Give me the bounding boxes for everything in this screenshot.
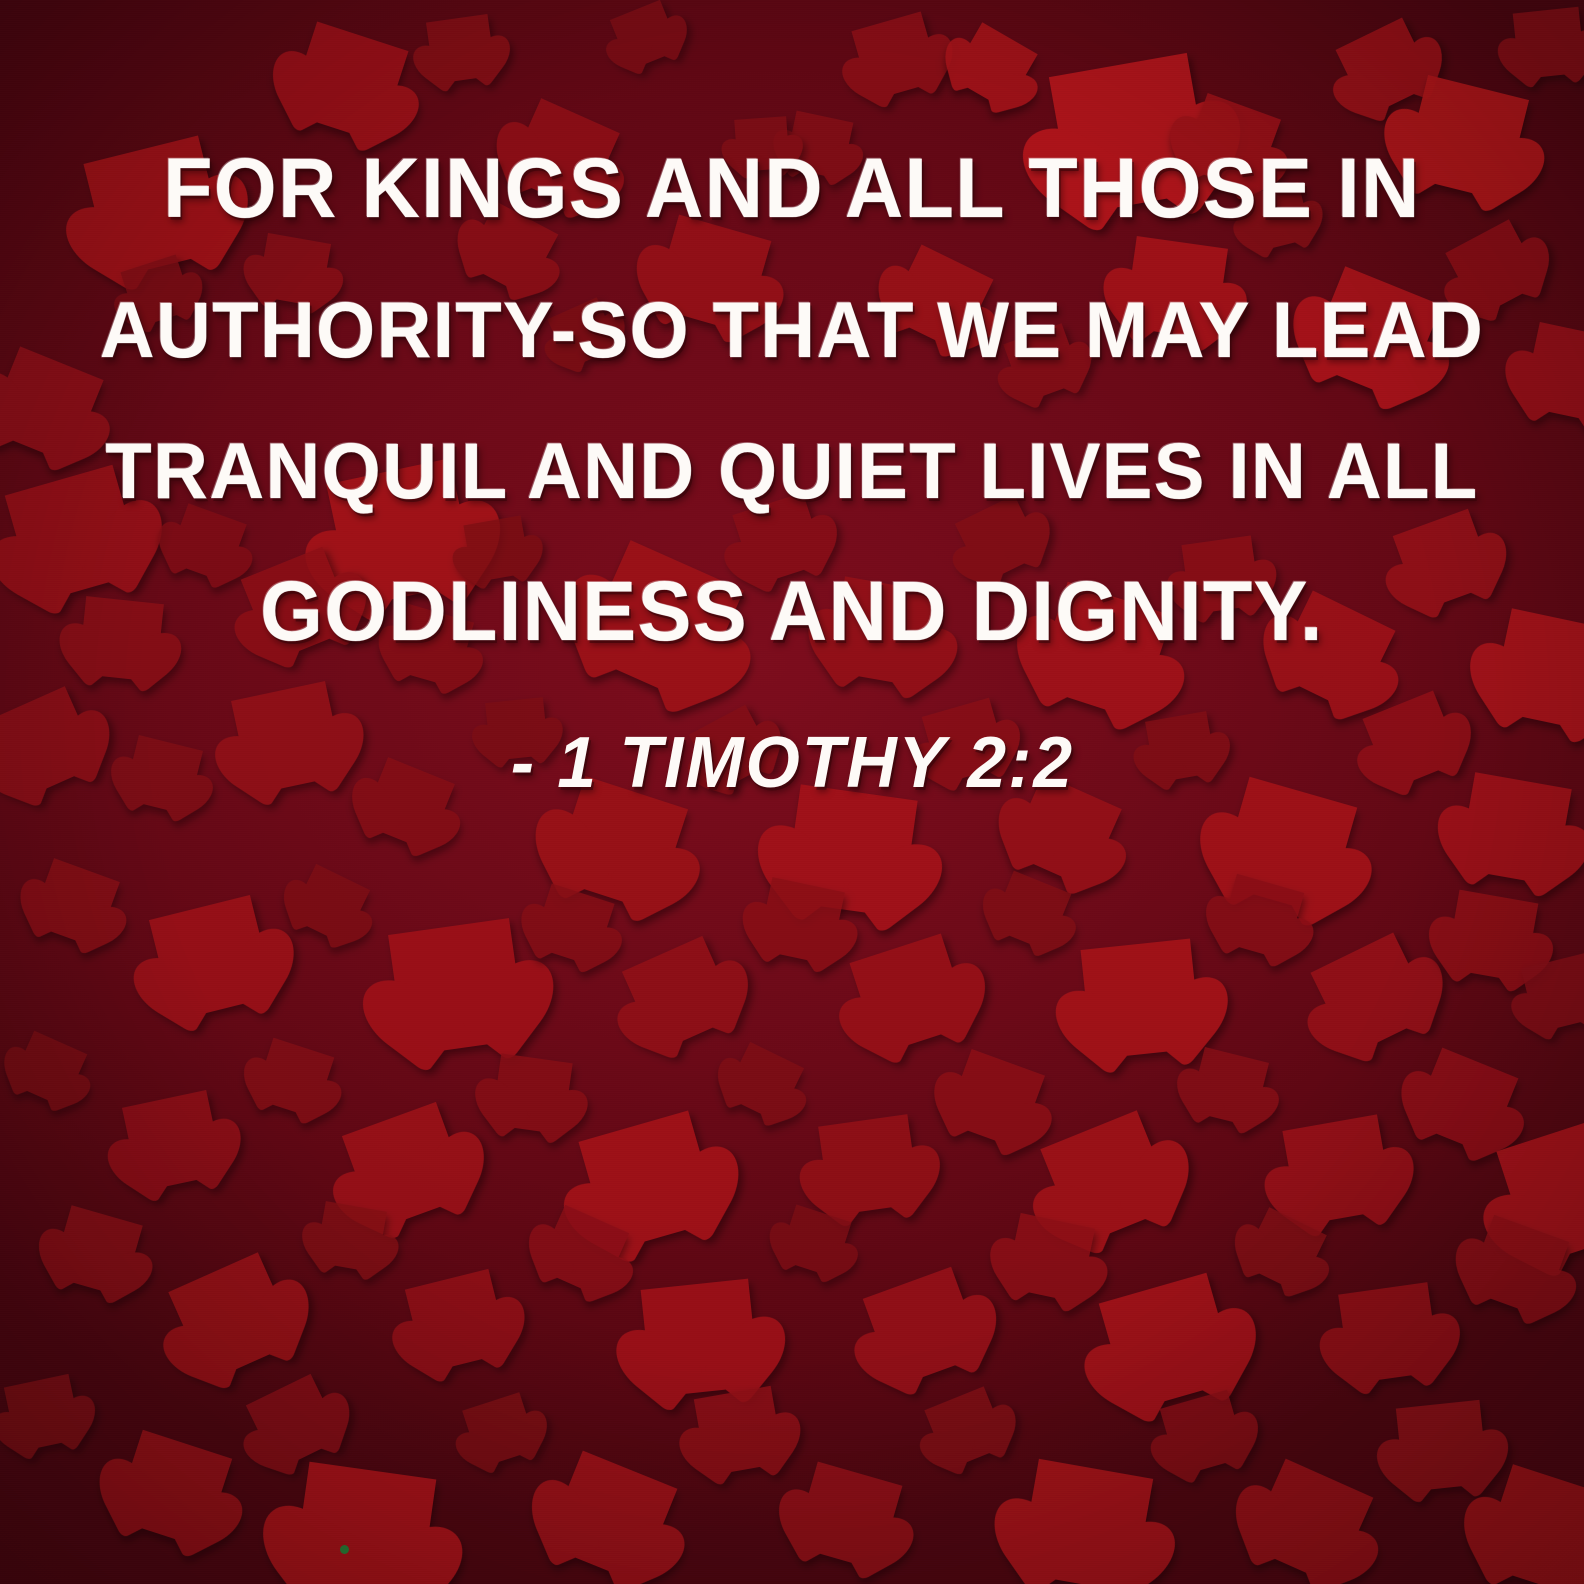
heart-confetti-icon bbox=[610, 0, 680, 70]
heart-confetti-icon bbox=[757, 877, 845, 965]
heart-confetti-icon bbox=[622, 936, 738, 1052]
verse-line: GODLINESS AND DIGNITY. bbox=[99, 541, 1485, 682]
heart-confetti-icon bbox=[122, 1090, 224, 1192]
heart-confetti-icon bbox=[30, 858, 120, 948]
green-speck-artifact bbox=[340, 1545, 349, 1554]
heart-confetti-icon bbox=[254, 1038, 335, 1119]
heart-confetti-icon bbox=[1189, 1047, 1269, 1127]
heart-confetti-icon bbox=[11, 1031, 88, 1108]
heart-confetti-icon bbox=[1005, 1213, 1095, 1303]
heart-confetti-icon bbox=[168, 1252, 297, 1381]
heart-confetti-icon bbox=[724, 1042, 804, 1122]
heart-confetti-icon bbox=[818, 1114, 920, 1216]
heart-confetti-icon bbox=[1099, 1273, 1238, 1412]
heart-confetti-icon bbox=[4, 1374, 82, 1452]
heart-confetti-icon bbox=[1310, 932, 1433, 1055]
heart-confetti-icon bbox=[794, 1462, 903, 1571]
heart-confetti-icon bbox=[1513, 7, 1584, 80]
heart-confetti-icon bbox=[1336, 18, 1435, 117]
verse-image-canvas: FOR KINGS AND ALL THOSE IN AUTHORITY-SO … bbox=[0, 0, 1584, 1584]
heart-confetti-icon bbox=[405, 1269, 509, 1373]
heart-confetti-icon bbox=[694, 1386, 784, 1476]
heart-confetti-icon bbox=[1412, 1048, 1519, 1155]
heart-confetti-icon bbox=[950, 22, 1037, 109]
heart-confetti-icon bbox=[851, 11, 940, 100]
verse-text-block: FOR KINGS AND ALL THOSE IN AUTHORITY-SO … bbox=[0, 118, 1584, 682]
heart-confetti-icon bbox=[1019, 1459, 1153, 1584]
heart-confetti-icon bbox=[114, 1430, 232, 1548]
verse-line: FOR KINGS AND ALL THOSE IN bbox=[99, 118, 1485, 259]
heart-confetti-icon bbox=[1480, 1464, 1584, 1584]
heart-confetti-icon bbox=[246, 1374, 342, 1470]
heart-confetti-icon bbox=[426, 14, 496, 84]
verse-line-text: GODLINESS AND DIGNITY. bbox=[260, 541, 1324, 682]
heart-confetti-icon bbox=[924, 1386, 1007, 1469]
verse-line-text: FOR KINGS AND ALL THOSE IN bbox=[163, 118, 1421, 259]
heart-confetti-icon bbox=[1247, 1459, 1374, 1584]
heart-confetti-icon bbox=[1081, 939, 1202, 1060]
heart-confetti-icon bbox=[149, 895, 275, 1021]
heart-confetti-icon bbox=[491, 1053, 572, 1134]
verse-line-text: AUTHORITY-SO THAT WE MAY LEAD bbox=[100, 259, 1484, 400]
verse-line-text: TRANQUIL AND QUIET LIVES IN ALL bbox=[105, 400, 1478, 541]
verse-line: AUTHORITY-SO THAT WE MAY LEAD bbox=[99, 259, 1485, 400]
verse-line: TRANQUIL AND QUIET LIVES IN ALL bbox=[99, 400, 1485, 541]
heart-confetti-icon bbox=[315, 1201, 387, 1273]
heart-confetti-icon bbox=[51, 1205, 143, 1297]
heart-confetti-icon bbox=[1282, 1114, 1393, 1225]
heart-confetti-icon bbox=[290, 864, 370, 944]
verse-citation-text: - 1 TIMOTHY 2:2 bbox=[510, 722, 1073, 804]
heart-confetti-icon bbox=[292, 1462, 437, 1584]
heart-confetti-icon bbox=[531, 883, 614, 966]
heart-confetti-icon bbox=[1338, 1282, 1440, 1384]
heart-confetti-icon bbox=[1396, 1400, 1488, 1492]
heart-confetti-icon bbox=[850, 934, 971, 1055]
heart-confetti-icon bbox=[863, 1267, 983, 1387]
verse-citation: - 1 TIMOTHY 2:2 bbox=[0, 722, 1584, 804]
heart-confetti-icon bbox=[1160, 1390, 1247, 1477]
heart-confetti-icon bbox=[462, 1392, 538, 1468]
heart-confetti-icon bbox=[388, 918, 526, 1056]
heart-confetti-icon bbox=[991, 871, 1072, 952]
heart-confetti-icon bbox=[945, 1049, 1045, 1149]
heart-confetti-icon bbox=[641, 1279, 760, 1398]
heart-confetti-icon bbox=[545, 1451, 678, 1584]
